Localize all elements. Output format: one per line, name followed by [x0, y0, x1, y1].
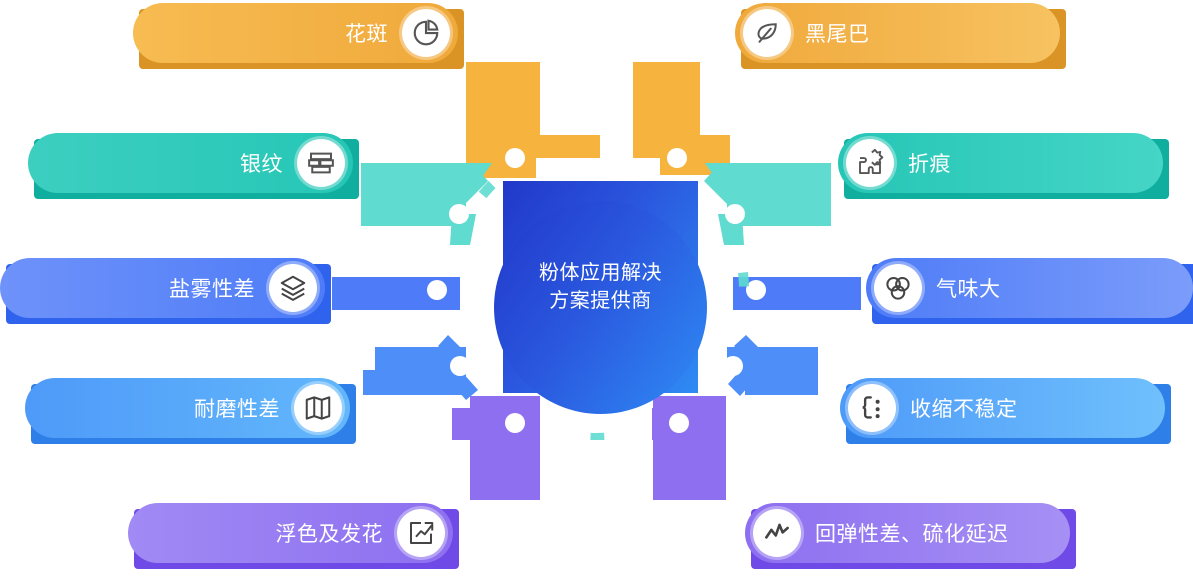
- line-chart-icon: [753, 509, 801, 557]
- pie-chart-icon: [402, 9, 450, 57]
- node-label: 回弹性差、硫化延迟: [815, 518, 1009, 548]
- node-body: 银纹: [28, 133, 353, 193]
- node-right-5[interactable]: 回弹性差、硫化延迟: [745, 503, 1070, 563]
- puzzle-icon: [846, 139, 894, 187]
- layers-icon: [269, 264, 317, 312]
- node-label: 收缩不稳定: [910, 393, 1018, 423]
- node-body: 折痕: [838, 133, 1163, 193]
- node-right-4[interactable]: 收缩不稳定: [840, 378, 1165, 438]
- node-body: 收缩不稳定: [840, 378, 1165, 438]
- node-label: 折痕: [908, 148, 951, 178]
- diagram-canvas: 粉体应用解决 方案提供商 花斑 银纹: [0, 0, 1193, 577]
- brick-wall-icon: [297, 139, 345, 187]
- node-label: 气味大: [936, 273, 1001, 303]
- node-body: 浮色及发花: [128, 503, 453, 563]
- node-label: 黑尾巴: [805, 18, 870, 48]
- trend-up-icon: [397, 509, 445, 557]
- node-label: 银纹: [240, 148, 283, 178]
- node-body: 黑尾巴: [735, 3, 1060, 63]
- node-body: 气味大: [866, 258, 1193, 318]
- node-body: 花斑: [133, 3, 458, 63]
- node-label: 耐磨性差: [194, 393, 280, 423]
- node-left-4[interactable]: 耐磨性差: [25, 378, 350, 438]
- node-right-3[interactable]: 气味大: [866, 258, 1193, 318]
- center-node[interactable]: 粉体应用解决 方案提供商: [503, 181, 698, 393]
- center-title: 粉体应用解决 方案提供商: [503, 181, 698, 393]
- node-label: 浮色及发花: [276, 518, 384, 548]
- recycle-icon: [874, 264, 922, 312]
- node-right-2[interactable]: 折痕: [838, 133, 1163, 193]
- node-label: 花斑: [345, 18, 388, 48]
- node-left-1[interactable]: 花斑: [133, 3, 458, 63]
- leaf-icon: [743, 9, 791, 57]
- node-left-3[interactable]: 盐雾性差: [0, 258, 325, 318]
- node-right-1[interactable]: 黑尾巴: [735, 3, 1060, 63]
- node-left-5[interactable]: 浮色及发花: [128, 503, 453, 563]
- node-left-2[interactable]: 银纹: [28, 133, 353, 193]
- node-body: 回弹性差、硫化延迟: [745, 503, 1070, 563]
- node-body: 盐雾性差: [0, 258, 325, 318]
- map-icon: [294, 384, 342, 432]
- node-body: 耐磨性差: [25, 378, 350, 438]
- node-label: 盐雾性差: [169, 273, 255, 303]
- braces-icon: [848, 384, 896, 432]
